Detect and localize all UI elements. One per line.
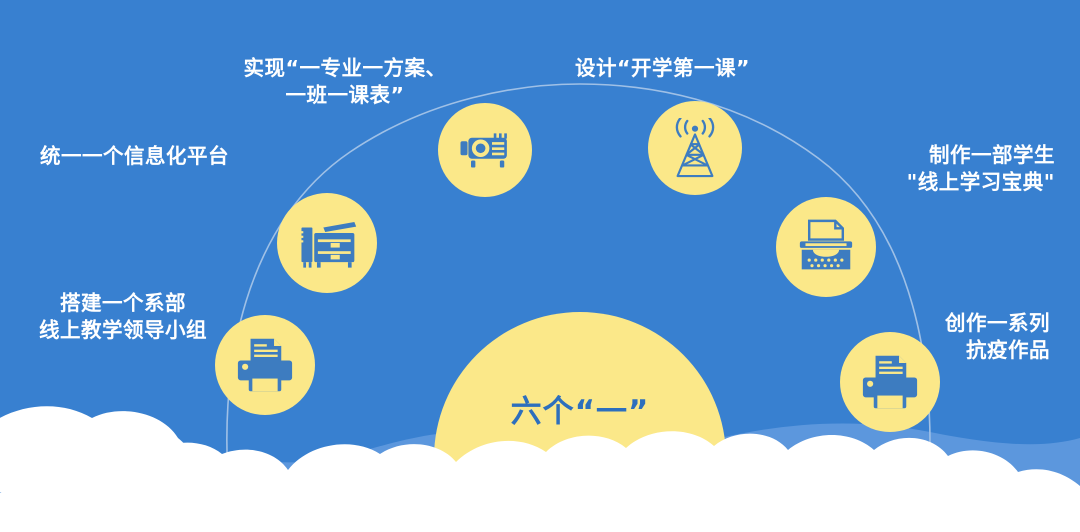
caption-online-study-handbook: 制作一部学生 "线上学习宝典" (790, 142, 1055, 196)
node-first-class-of-term[interactable] (648, 101, 742, 195)
node-one-major-one-plan[interactable] (277, 193, 377, 293)
node-unified-platform[interactable] (438, 103, 532, 197)
caption-first-class-of-term: 设计“开学第一课” (575, 55, 895, 82)
broadcast-tower-icon (666, 118, 724, 178)
caption-teaching-leadership-group: 搭建一个系部 线上教学领导小组 (8, 290, 238, 344)
caption-one-major-one-plan: 实现“一专业一方案、 一班一课表” (200, 55, 490, 109)
projector-icon (457, 122, 513, 178)
printer-document-icon (236, 337, 294, 393)
node-online-study-handbook[interactable] (776, 197, 876, 297)
copier-icon (296, 214, 358, 272)
typewriter-icon (796, 219, 856, 275)
caption-anti-epidemic-works: 创作一系列 抗疫作品 (830, 310, 1050, 364)
caption-unified-platform: 统一一个信息化平台 (40, 143, 340, 170)
infographic-canvas: 六个“一” 统一一个信息化平台 (0, 0, 1080, 532)
center-label: 六个“一” (434, 395, 726, 429)
